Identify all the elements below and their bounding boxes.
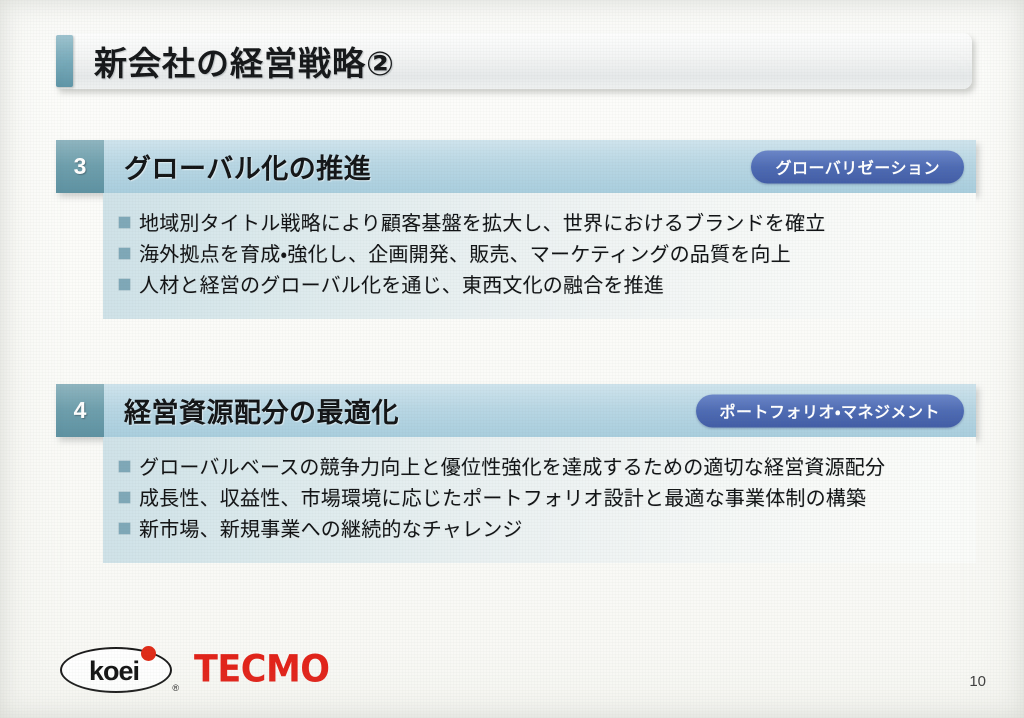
page-number: 10 xyxy=(969,673,986,690)
bullet-text: 新市場、新規事業への継続的なチャレンジ xyxy=(139,513,523,542)
square-bullet-icon xyxy=(119,461,130,472)
list-item: 新市場、新規事業への継続的なチャレンジ xyxy=(103,513,976,544)
bullet-text: 人材と経営のグローバル化を通じ、東西文化の融合を推進 xyxy=(139,269,664,298)
section-resource-allocation: 4 経営資源配分の最適化 ポートフォリオ・マネジメント グローバルベースの競争力… xyxy=(56,384,976,563)
section-body: グローバルベースの競争力向上と優位性強化を達成するための適切な経営資源配分 成長… xyxy=(103,437,976,563)
registered-trademark-icon: ® xyxy=(172,683,179,693)
list-item: 海外拠点を育成・強化し、企画開発、販売、マーケティングの品質を向上 xyxy=(103,238,976,269)
section-header: 3 グローバル化の推進 グローバリゼーション xyxy=(56,140,976,193)
section-number-badge: 4 xyxy=(56,384,104,437)
bullet-text: 成長性、収益性、市場環境に応じたポートフォリオ設計と最適な事業体制の構築 xyxy=(139,482,866,511)
section-keyword-badge: グローバリゼーション xyxy=(751,150,964,183)
section-number-badge: 3 xyxy=(56,140,104,193)
section-title: グローバル化の推進 xyxy=(124,147,371,186)
section-title-area: グローバル化の推進 グローバリゼーション xyxy=(104,140,976,193)
tecmo-logo: TECMO xyxy=(194,649,330,691)
paper-texture-overlay xyxy=(0,0,1024,718)
slide-title-bar: 新会社の経営戦略② xyxy=(56,33,972,89)
square-bullet-icon xyxy=(119,248,130,259)
section-title: 経営資源配分の最適化 xyxy=(124,391,399,430)
square-bullet-icon xyxy=(119,523,130,534)
footer-logo-group: koei ® TECMO xyxy=(60,647,330,693)
list-item: 人材と経営のグローバル化を通じ、東西文化の融合を推進 xyxy=(103,269,976,300)
bullet-text: 海外拠点を育成・強化し、企画開発、販売、マーケティングの品質を向上 xyxy=(139,238,791,267)
list-item: グローバルベースの競争力向上と優位性強化を達成するための適切な経営資源配分 xyxy=(103,451,976,482)
title-accent-bar xyxy=(56,35,73,87)
bullet-text: 地域別タイトル戦略により顧客基盤を拡大し、世界におけるブランドを確立 xyxy=(139,207,825,236)
section-keyword-badge: ポートフォリオ・マネジメント xyxy=(696,394,964,427)
koei-red-dot-icon xyxy=(141,646,156,661)
section-header: 4 経営資源配分の最適化 ポートフォリオ・マネジメント xyxy=(56,384,976,437)
scan-edge-vignette xyxy=(0,0,1024,718)
square-bullet-icon xyxy=(119,279,130,290)
koei-logo: koei ® xyxy=(60,647,172,693)
slide-canvas: 新会社の経営戦略② 3 グローバル化の推進 グローバリゼーション 地域別タイトル… xyxy=(0,0,1024,718)
square-bullet-icon xyxy=(119,492,130,503)
section-body: 地域別タイトル戦略により顧客基盤を拡大し、世界におけるブランドを確立 海外拠点を… xyxy=(103,193,976,319)
list-item: 成長性、収益性、市場環境に応じたポートフォリオ設計と最適な事業体制の構築 xyxy=(103,482,976,513)
square-bullet-icon xyxy=(119,217,130,228)
section-title-area: 経営資源配分の最適化 ポートフォリオ・マネジメント xyxy=(104,384,976,437)
list-item: 地域別タイトル戦略により顧客基盤を拡大し、世界におけるブランドを確立 xyxy=(103,207,976,238)
bullet-text: グローバルベースの競争力向上と優位性強化を達成するための適切な経営資源配分 xyxy=(139,451,885,480)
page-title: 新会社の経営戦略② xyxy=(94,37,395,85)
section-globalization: 3 グローバル化の推進 グローバリゼーション 地域別タイトル戦略により顧客基盤を… xyxy=(56,140,976,319)
koei-wordmark: koei xyxy=(89,658,139,685)
